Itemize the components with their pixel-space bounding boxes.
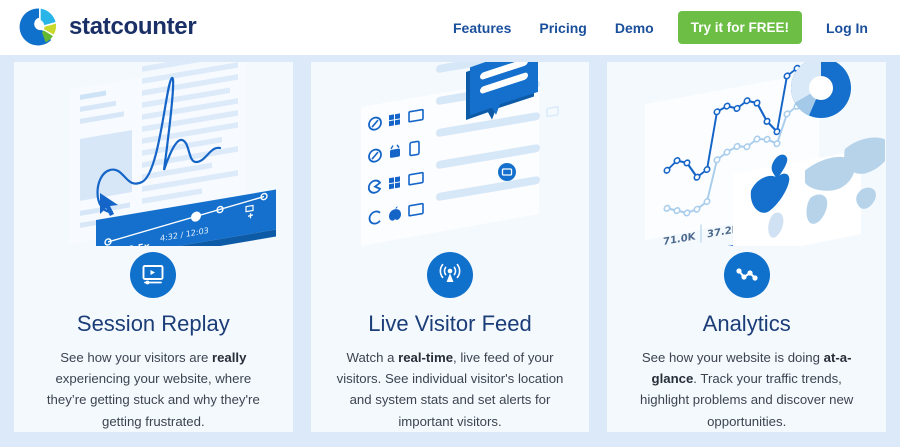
broadcast-antenna-icon (427, 252, 473, 298)
session-replay-illustration: 0.5x 4:32 / 12:03 (14, 62, 293, 246)
feature-card-analytics[interactable]: 71.0K 37.2K 16.5K 20.7K (607, 62, 886, 432)
landing-page-features-section: statcounter Features Pricing Demo Try it… (0, 0, 900, 447)
live-visitor-feed-illustration (311, 62, 590, 246)
analytics-illustration: 71.0K 37.2K 16.5K 20.7K (607, 62, 886, 246)
card-title-session-replay: Session Replay (77, 312, 230, 336)
card-body-session-replay: See how your visitors are really experie… (14, 347, 293, 433)
nav-demo[interactable]: Demo (601, 20, 668, 36)
card-body-live-visitor-feed: Watch a real-time, live feed of your vis… (311, 347, 590, 433)
nav-pricing[interactable]: Pricing (525, 20, 600, 36)
main-nav: Features Pricing Demo Try it for FREE! L… (439, 0, 882, 55)
feature-card-live-visitor-feed[interactable]: Live Visitor Feed Watch a real-time, liv… (311, 62, 590, 432)
try-it-free-button[interactable]: Try it for FREE! (678, 11, 802, 44)
feature-cards: 0.5x 4:32 / 12:03 (14, 62, 886, 432)
donut-chart-logo-icon (18, 6, 60, 48)
nav-login[interactable]: Log In (812, 20, 882, 36)
analytics-line-icon (724, 252, 770, 298)
brand-name: statcounter (69, 15, 196, 39)
nav-features[interactable]: Features (439, 20, 525, 36)
brand-logo[interactable]: statcounter (18, 6, 196, 48)
site-header: statcounter Features Pricing Demo Try it… (0, 0, 900, 55)
card-body-analytics: See how your website is doing at-a-glanc… (607, 347, 886, 433)
card-title-analytics: Analytics (703, 312, 791, 336)
screen-play-icon (130, 252, 176, 298)
card-title-live-visitor-feed: Live Visitor Feed (368, 312, 531, 336)
feature-card-session-replay[interactable]: 0.5x 4:32 / 12:03 (14, 62, 293, 432)
